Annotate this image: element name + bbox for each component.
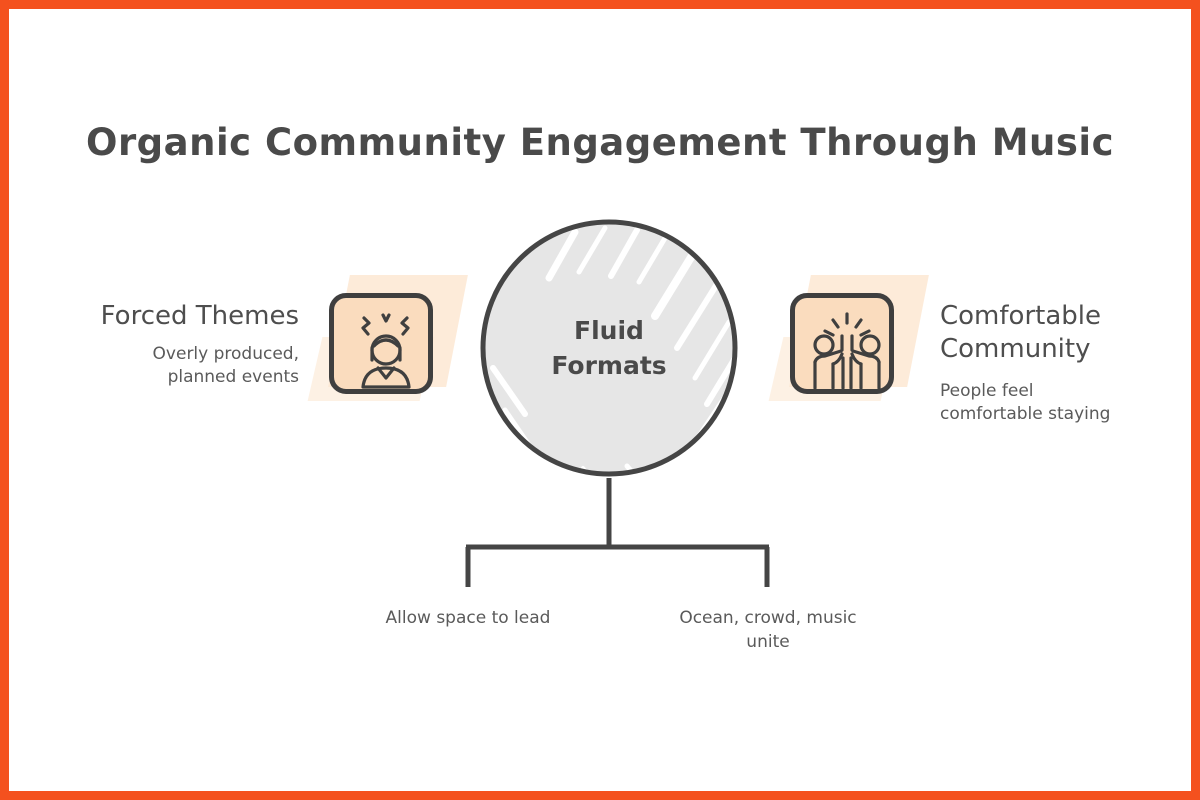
center-label-line1: Fluid (574, 313, 644, 349)
right-icon-frame (790, 293, 894, 394)
center-node: Fluid Formats (479, 218, 739, 478)
right-icon-tile (784, 285, 900, 401)
left-subtext: Overly produced, planned events (29, 343, 299, 388)
infographic-canvas: Organic Community Engagement Through Mus… (9, 9, 1191, 791)
left-icon-tile (323, 285, 439, 401)
right-subtext-line1: People feel (940, 380, 1180, 403)
infographic-frame: Organic Community Engagement Through Mus… (0, 0, 1200, 800)
page-title: Organic Community Engagement Through Mus… (9, 121, 1191, 164)
left-heading: Forced Themes (29, 300, 299, 333)
right-subtext: People feel comfortable staying (940, 380, 1180, 425)
bottom-label-right-line2: unite (654, 631, 882, 655)
center-label-line2: Formats (551, 348, 666, 384)
center-node-label: Fluid Formats (479, 218, 739, 478)
left-subtext-line1: Overly produced, (29, 343, 299, 366)
left-icon-frame (329, 293, 433, 394)
bottom-label-right-line1: Ocean, crowd, music (654, 607, 882, 631)
right-heading-line1: Comfortable (940, 300, 1180, 333)
people-high-five-icon (795, 298, 899, 399)
left-subtext-line2: planned events (29, 366, 299, 389)
right-label-block: Comfortable Community People feel comfor… (940, 300, 1180, 425)
right-subtext-line2: comfortable staying (940, 403, 1180, 426)
bottom-label-left-line1: Allow space to lead (354, 607, 582, 631)
bottom-label-left: Allow space to lead (354, 607, 582, 631)
right-heading-line2: Community (940, 333, 1180, 366)
bottom-label-right: Ocean, crowd, music unite (654, 607, 882, 655)
right-heading: Comfortable Community (940, 300, 1180, 366)
stressed-person-icon (334, 298, 438, 399)
left-label-block: Forced Themes Overly produced, planned e… (29, 300, 299, 388)
